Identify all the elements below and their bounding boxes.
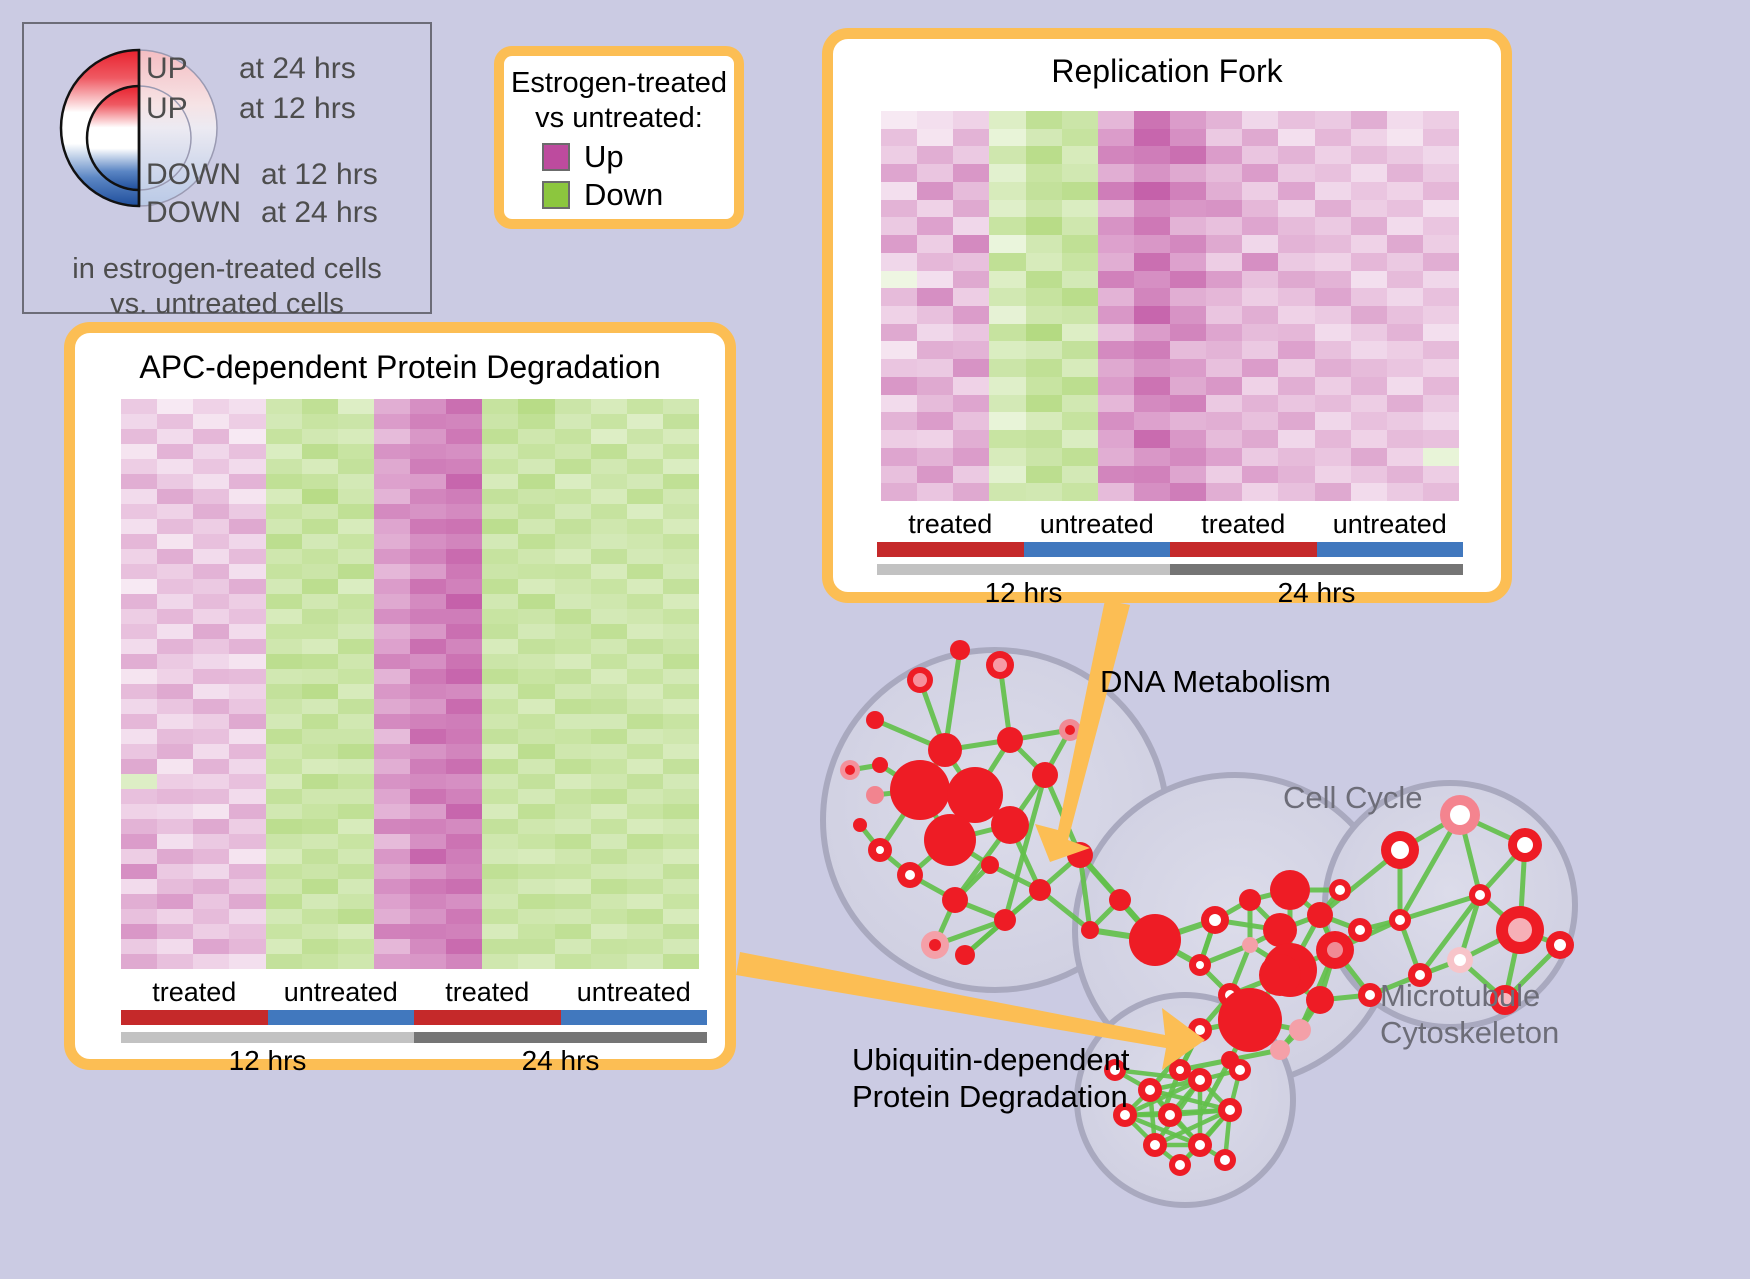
heatmap-cell — [193, 684, 229, 699]
heatmap-cell — [591, 834, 627, 849]
heatmap-cell — [266, 954, 302, 969]
heatmap-cell — [121, 714, 157, 729]
heatmap-cell — [1315, 288, 1351, 306]
heatmap-cell — [518, 399, 554, 414]
heatmap-cell — [989, 146, 1025, 164]
heatmap-cell — [157, 549, 193, 564]
heatmap-cell — [482, 864, 518, 879]
heatmap-cell — [157, 519, 193, 534]
heatmap-cell — [446, 579, 482, 594]
heatmap-cell — [663, 579, 699, 594]
heatmap-cell — [663, 924, 699, 939]
heatmap-cell — [953, 448, 989, 466]
heatmap-cell — [555, 564, 591, 579]
heatmap-cell — [157, 624, 193, 639]
heatmap-cell — [555, 669, 591, 684]
heatmap-cell — [157, 729, 193, 744]
heatmap-cell — [193, 429, 229, 444]
heatmap-cell — [374, 579, 410, 594]
heatmap-cell — [663, 939, 699, 954]
heatmap-cell — [1098, 359, 1134, 377]
heatmap-cell — [266, 669, 302, 684]
heatmap-cell — [482, 624, 518, 639]
heatmap-cell — [482, 924, 518, 939]
heatmap-cell — [591, 774, 627, 789]
heatmap-cell — [193, 909, 229, 924]
heatmap-cell — [482, 429, 518, 444]
heatmap-cell — [157, 849, 193, 864]
heatmap-cell — [374, 849, 410, 864]
heatmap-cell — [266, 714, 302, 729]
heatmap-cell — [1134, 129, 1170, 147]
heatmap-cell — [1351, 146, 1387, 164]
heatmap-cell — [1062, 359, 1098, 377]
heatmap-cell — [1134, 235, 1170, 253]
heatmap-cell — [591, 759, 627, 774]
heatmap-cell — [302, 534, 338, 549]
heatmap-cell — [518, 654, 554, 669]
heatmap-cell — [193, 894, 229, 909]
heatmap-cell — [1351, 466, 1387, 484]
heatmap-cell — [1026, 483, 1062, 501]
heatmap-cell — [1278, 395, 1314, 413]
heatmap-cell — [627, 399, 663, 414]
heatmap-cell — [518, 684, 554, 699]
heatmap-cell — [1242, 288, 1278, 306]
heatmap-cell — [482, 609, 518, 624]
heatmap-cell — [1206, 182, 1242, 200]
heatmap-cell — [1062, 430, 1098, 448]
heatmap-cell — [1062, 111, 1098, 129]
heatmap-cell — [518, 489, 554, 504]
heatmap-cell — [482, 879, 518, 894]
heatmap-cell — [555, 804, 591, 819]
heatmap-cell — [1315, 111, 1351, 129]
group-labels: treated untreated treated untreated — [877, 509, 1463, 540]
heatmap-cell — [229, 744, 265, 759]
heatmap-cell — [555, 519, 591, 534]
heatmap-cell — [338, 774, 374, 789]
heatmap-cell — [555, 579, 591, 594]
heatmap-cell — [157, 534, 193, 549]
heatmap-cell — [338, 564, 374, 579]
heatmap-cell — [374, 549, 410, 564]
heatmap-cell — [374, 684, 410, 699]
heatmap-cell — [627, 519, 663, 534]
heatmap-cell — [1242, 483, 1278, 501]
up-color-swatch — [542, 143, 570, 171]
heatmap-cell — [591, 864, 627, 879]
heatmap-cell — [446, 504, 482, 519]
heatmap-cell — [302, 879, 338, 894]
heatmap-cell — [229, 819, 265, 834]
heatmap-cell — [193, 729, 229, 744]
heatmap-cell — [591, 504, 627, 519]
heatmap-cell — [1351, 164, 1387, 182]
heatmap-cell — [953, 111, 989, 129]
heatmap-cell — [989, 448, 1025, 466]
heatmap-cell — [302, 549, 338, 564]
heatmap-cell — [410, 834, 446, 849]
heatmap-cell — [627, 654, 663, 669]
heatmap-cell — [193, 939, 229, 954]
heatmap-cell — [1387, 412, 1423, 430]
heatmap-cell — [374, 669, 410, 684]
heatmap-cell — [1242, 146, 1278, 164]
heatmap-cell — [663, 744, 699, 759]
heatmap-cell — [591, 399, 627, 414]
heatmap-cell — [881, 359, 917, 377]
heatmap-cell — [917, 271, 953, 289]
heatmap-cell — [338, 744, 374, 759]
heatmap-cell — [953, 235, 989, 253]
heatmap-cell — [1242, 377, 1278, 395]
heatmap-cell — [591, 459, 627, 474]
heatmap-cell — [482, 819, 518, 834]
heatmap-cell — [1062, 182, 1098, 200]
legend-row-3-time: at 24 hrs — [261, 196, 378, 230]
heatmap-cell — [881, 164, 917, 182]
heatmap-cell — [1134, 146, 1170, 164]
heatmap-cell — [1206, 164, 1242, 182]
heatmap-cell — [1134, 182, 1170, 200]
heatmap-cell — [881, 448, 917, 466]
heatmap-cell — [663, 879, 699, 894]
heatmap-cell — [663, 489, 699, 504]
heatmap-cell — [1062, 466, 1098, 484]
heatmap-cell — [266, 744, 302, 759]
heatmap-cell — [555, 789, 591, 804]
heatmap-cell — [1278, 200, 1314, 218]
heatmap-cell — [1423, 182, 1459, 200]
heatmap-cell — [446, 804, 482, 819]
heatmap-cell — [266, 864, 302, 879]
heatmap-cell — [446, 564, 482, 579]
heatmap-cell — [1315, 448, 1351, 466]
heatmap-cell — [302, 624, 338, 639]
heatmap-cell — [1206, 359, 1242, 377]
heatmap-cell — [518, 729, 554, 744]
heatmap-cell — [1026, 395, 1062, 413]
heatmap-cell — [338, 789, 374, 804]
heatmap-cell — [591, 894, 627, 909]
heatmap-cell — [482, 759, 518, 774]
heatmap-cell — [1387, 483, 1423, 501]
heatmap-cell — [193, 399, 229, 414]
heatmap-cell — [410, 429, 446, 444]
heatmap-cell — [591, 519, 627, 534]
heatmap-cell — [157, 759, 193, 774]
replication-fork-heatmap — [881, 111, 1459, 501]
heatmap-cell — [518, 579, 554, 594]
heatmap-cell — [338, 429, 374, 444]
heatmap-cell — [1098, 217, 1134, 235]
heatmap-cell — [881, 466, 917, 484]
heatmap-cell — [1315, 164, 1351, 182]
heatmap-cell — [518, 954, 554, 969]
heatmap-cell — [229, 594, 265, 609]
heatmap-cell — [157, 399, 193, 414]
heatmap-cell — [627, 669, 663, 684]
heatmap-cell — [1098, 182, 1134, 200]
heatmap-cell — [1098, 200, 1134, 218]
heatmap-cell — [518, 789, 554, 804]
group-color-segment — [561, 1010, 708, 1025]
heatmap-cell — [989, 288, 1025, 306]
heatmap-cell — [1387, 129, 1423, 147]
heatmap-cell — [1170, 129, 1206, 147]
heatmap-cell — [193, 774, 229, 789]
heatmap-cell — [121, 414, 157, 429]
heatmap-cell — [881, 235, 917, 253]
heatmap-cell — [1242, 448, 1278, 466]
heatmap-cell — [1315, 235, 1351, 253]
heatmap-cell — [1206, 483, 1242, 501]
heatmap-cell — [989, 235, 1025, 253]
heatmap-cell — [266, 804, 302, 819]
heatmap-cell — [302, 849, 338, 864]
heatmap-cell — [410, 894, 446, 909]
heatmap-cell — [591, 549, 627, 564]
heatmap-cell — [229, 639, 265, 654]
heatmap-cell — [953, 341, 989, 359]
heatmap-cell — [663, 789, 699, 804]
heatmap-cell — [1026, 271, 1062, 289]
heatmap-cell — [482, 894, 518, 909]
heatmap-cell — [1423, 271, 1459, 289]
heatmap-cell — [121, 684, 157, 699]
heatmap-cell — [229, 579, 265, 594]
heatmap-cell — [121, 864, 157, 879]
heatmap-cell — [555, 849, 591, 864]
heatmap-cell — [1315, 271, 1351, 289]
heatmap-cell — [1026, 412, 1062, 430]
heatmap-cell — [157, 864, 193, 879]
heatmap-cell — [157, 774, 193, 789]
heatmap-cell — [1423, 200, 1459, 218]
heatmap-cell — [157, 594, 193, 609]
heatmap-cell — [193, 519, 229, 534]
heatmap-cell — [410, 744, 446, 759]
heatmap-cell — [302, 684, 338, 699]
heatmap-cell — [1278, 253, 1314, 271]
heatmap-cell — [1062, 146, 1098, 164]
heatmap-cell — [1026, 306, 1062, 324]
heatmap-cell — [881, 288, 917, 306]
apc-protein-degradation-panel: APC-dependent Protein Degradation treate… — [64, 322, 736, 1070]
heatmap-cell — [1387, 111, 1423, 129]
heatmap-cell — [555, 639, 591, 654]
heatmap-cell — [410, 774, 446, 789]
heatmap-cell — [338, 729, 374, 744]
heatmap-cell — [555, 954, 591, 969]
heatmap-cell — [627, 849, 663, 864]
heatmap-cell — [1242, 466, 1278, 484]
heatmap-cell — [1206, 395, 1242, 413]
heatmap-cell — [663, 414, 699, 429]
heatmap-cell — [302, 714, 338, 729]
heatmap-cell — [555, 729, 591, 744]
heatmap-cell — [917, 129, 953, 147]
heatmap-cell — [229, 654, 265, 669]
heatmap-cell — [157, 939, 193, 954]
heatmap-cell — [338, 804, 374, 819]
heatmap-cell — [917, 395, 953, 413]
heatmap-cell — [663, 684, 699, 699]
heatmap-cell — [1170, 253, 1206, 271]
heatmap-cell — [302, 954, 338, 969]
heatmap-cell — [591, 804, 627, 819]
heatmap-cell — [446, 729, 482, 744]
heatmap-cell — [1134, 288, 1170, 306]
heatmap-cell — [266, 429, 302, 444]
heatmap-cell — [1423, 412, 1459, 430]
heatmap-cell — [1026, 359, 1062, 377]
heatmap-cell — [121, 534, 157, 549]
heatmap-cell — [518, 549, 554, 564]
heatmap-cell — [881, 253, 917, 271]
heatmap-cell — [229, 489, 265, 504]
heatmap-cell — [1206, 466, 1242, 484]
heatmap-cell — [1387, 235, 1423, 253]
heatmap-cell — [229, 954, 265, 969]
heatmap-cell — [410, 714, 446, 729]
heatmap-cell — [266, 699, 302, 714]
heatmap-cell — [229, 504, 265, 519]
heatmap-cell — [266, 774, 302, 789]
heatmap-cell — [1351, 253, 1387, 271]
legend-row-0-time: at 24 hrs — [239, 52, 356, 86]
heatmap-cell — [1062, 483, 1098, 501]
heatmap-cell — [1315, 395, 1351, 413]
heatmap-cell — [1315, 341, 1351, 359]
timepoint-color-segment — [121, 1032, 414, 1043]
heatmap-cell — [518, 669, 554, 684]
heatmap-cell — [627, 504, 663, 519]
heatmap-cell — [1423, 466, 1459, 484]
heatmap-cell — [302, 579, 338, 594]
heatmap-cell — [374, 819, 410, 834]
heatmap-cell — [1423, 483, 1459, 501]
heatmap-cell — [1423, 129, 1459, 147]
heatmap-cell — [1026, 200, 1062, 218]
heatmap-cell — [1134, 483, 1170, 501]
heatmap-cell — [229, 399, 265, 414]
heatmap-cell — [229, 864, 265, 879]
heatmap-cell — [157, 744, 193, 759]
heatmap-cell — [663, 894, 699, 909]
heatmap-cell — [266, 459, 302, 474]
heatmap-cell — [1351, 235, 1387, 253]
heatmap-cell — [1026, 324, 1062, 342]
heatmap-cell — [266, 654, 302, 669]
legend-row-2-label: DOWN — [146, 158, 241, 192]
heatmap-cell — [338, 549, 374, 564]
heatmap-cell — [917, 200, 953, 218]
group-label: treated — [1170, 509, 1317, 540]
heatmap-cell — [591, 564, 627, 579]
heatmap-cell — [157, 459, 193, 474]
heatmap-cell — [1351, 324, 1387, 342]
heatmap-cell — [1423, 377, 1459, 395]
heatmap-cell — [518, 744, 554, 759]
heatmap-cell — [1242, 271, 1278, 289]
heatmap-cell — [266, 534, 302, 549]
heatmap-cell — [1242, 306, 1278, 324]
heatmap-cell — [1134, 111, 1170, 129]
cluster-label-microtubule-cytoskeleton: Microtubule Cytoskeleton — [1380, 978, 1559, 1051]
heatmap-cell — [917, 182, 953, 200]
heatmap-cell — [121, 699, 157, 714]
heatmap-cell — [663, 609, 699, 624]
heatmap-cell — [1062, 377, 1098, 395]
heatmap-cell — [663, 519, 699, 534]
heatmap-cell — [482, 579, 518, 594]
heatmap-cell — [266, 789, 302, 804]
heatmap-cell — [446, 684, 482, 699]
heatmap-cell — [1170, 341, 1206, 359]
heatmap-cell — [518, 699, 554, 714]
heatmap-cell — [518, 819, 554, 834]
heatmap-cell — [555, 924, 591, 939]
heatmap-cell — [1278, 466, 1314, 484]
heatmap-cell — [917, 253, 953, 271]
heatmap-cell — [591, 924, 627, 939]
heatmap-cell — [591, 474, 627, 489]
heatmap-cell — [1098, 271, 1134, 289]
heatmap-cell — [1170, 377, 1206, 395]
heatmap-cell — [1170, 412, 1206, 430]
heatmap-cell — [338, 444, 374, 459]
heatmap-cell — [157, 654, 193, 669]
heatmap-cell — [1278, 182, 1314, 200]
heatmap-cell — [1098, 288, 1134, 306]
heatmap-cell — [229, 879, 265, 894]
heatmap-cell — [266, 474, 302, 489]
heatmap-cell — [1242, 430, 1278, 448]
heatmap-cell — [1134, 395, 1170, 413]
heatmap-cell — [229, 429, 265, 444]
heatmap-cell — [1278, 483, 1314, 501]
heatmap-cell — [410, 414, 446, 429]
heatmap-cell — [591, 624, 627, 639]
heatmap-cell — [1134, 217, 1170, 235]
heatmap-cell — [1062, 129, 1098, 147]
heatmap-cell — [446, 789, 482, 804]
heatmap-cell — [446, 864, 482, 879]
heatmap-cell — [1387, 200, 1423, 218]
heatmap-cell — [663, 399, 699, 414]
heatmap-cell — [953, 483, 989, 501]
replication-fork-panel: Replication Fork treated untreated treat… — [822, 28, 1512, 603]
heatmap-cell — [917, 146, 953, 164]
heatmap-cell — [302, 759, 338, 774]
heatmap-cell — [374, 624, 410, 639]
heatmap-cell — [446, 879, 482, 894]
heatmap-cell — [1062, 324, 1098, 342]
group-color-segment — [877, 542, 1024, 557]
heatmap-cell — [1351, 306, 1387, 324]
heatmap-cell — [1206, 217, 1242, 235]
heatmap-cell — [663, 549, 699, 564]
heatmap-cell — [1278, 412, 1314, 430]
heatmap-cell — [1351, 341, 1387, 359]
heatmap-cell — [591, 669, 627, 684]
heatmap-cell — [266, 489, 302, 504]
heatmap-cell — [989, 395, 1025, 413]
heatmap-cell — [555, 894, 591, 909]
heatmap-cell — [121, 639, 157, 654]
